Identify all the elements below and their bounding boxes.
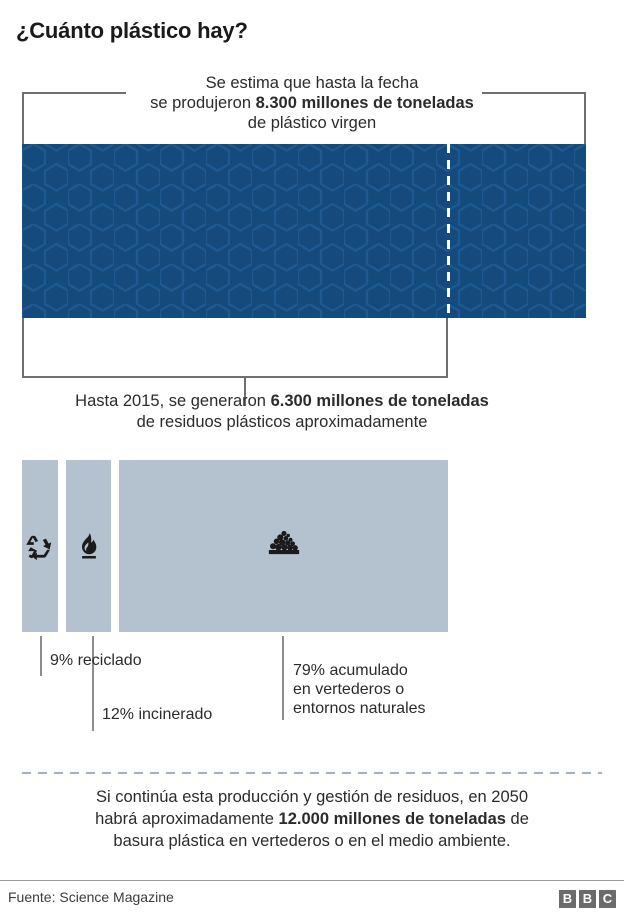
projection-line-3: basura plástica en vertederos o en el me… xyxy=(113,832,510,850)
waste-share-divider xyxy=(447,144,450,318)
bracket-mid-right-arm xyxy=(446,318,448,378)
bbc-logo-letter-3: C xyxy=(599,890,616,908)
virgin-plastic-bracket xyxy=(22,92,586,144)
bracket-mid-left-arm xyxy=(22,318,24,378)
label-landfill-line-3: entornos naturales xyxy=(293,700,426,717)
label-landfill-line-1: 79% acumulado xyxy=(293,662,408,679)
footer-divider xyxy=(0,880,624,881)
label-recycled: 9% reciclado xyxy=(50,651,142,670)
mid-caption-figure: 6.300 millones de toneladas xyxy=(271,392,489,410)
segment-incinerated xyxy=(66,460,111,632)
caption-line-1: Se estima que hasta la fecha xyxy=(206,74,419,92)
label-landfill-line-2: en vertederos o xyxy=(293,681,404,698)
mid-caption-line-2: de residuos plásticos aproximadamente xyxy=(137,413,428,431)
projection-line-2-suffix: de xyxy=(506,810,529,828)
label-incinerated: 12% incinerado xyxy=(102,705,212,724)
bbc-logo-letter-1: B xyxy=(559,890,576,908)
segment-landfill xyxy=(119,460,448,632)
flame-icon xyxy=(74,531,104,561)
waste-generated-caption: Hasta 2015, se generaron 6.300 millones … xyxy=(10,391,554,433)
waste-generated-bracket xyxy=(22,318,448,378)
virgin-plastic-bar xyxy=(22,144,586,318)
recycle-icon xyxy=(25,531,55,561)
bbc-logo: B B C xyxy=(559,890,616,908)
bracket-top-left-rule xyxy=(22,92,126,94)
label-landfill: 79% acumulado en vertederos o entornos n… xyxy=(293,661,426,718)
hexagon-pattern-icon xyxy=(22,144,586,318)
leader-line-landfill xyxy=(282,636,284,720)
leader-line-recycled xyxy=(40,636,42,676)
projection-line-2-prefix: habrá aproximadamente xyxy=(95,810,278,828)
source-attribution: Fuente: Science Magazine xyxy=(8,889,174,905)
dashed-divider xyxy=(22,772,602,774)
mid-caption-prefix: Hasta 2015, se generaron xyxy=(75,392,270,410)
page-title: ¿Cuánto plástico hay? xyxy=(16,18,248,44)
bracket-top-right-arm xyxy=(584,92,586,144)
projection-caption: Si continúa esta producción y gestión de… xyxy=(24,786,600,852)
bracket-mid-base-rule xyxy=(22,376,448,378)
bracket-top-left-arm xyxy=(22,92,24,144)
projection-figure: 12.000 millones de toneladas xyxy=(279,810,506,828)
bbc-logo-letter-2: B xyxy=(579,890,596,908)
bracket-top-right-rule xyxy=(482,92,586,94)
segment-recycled xyxy=(22,460,58,632)
projection-line-1: Si continúa esta producción y gestión de… xyxy=(96,788,528,806)
waste-pile-icon xyxy=(263,525,305,567)
